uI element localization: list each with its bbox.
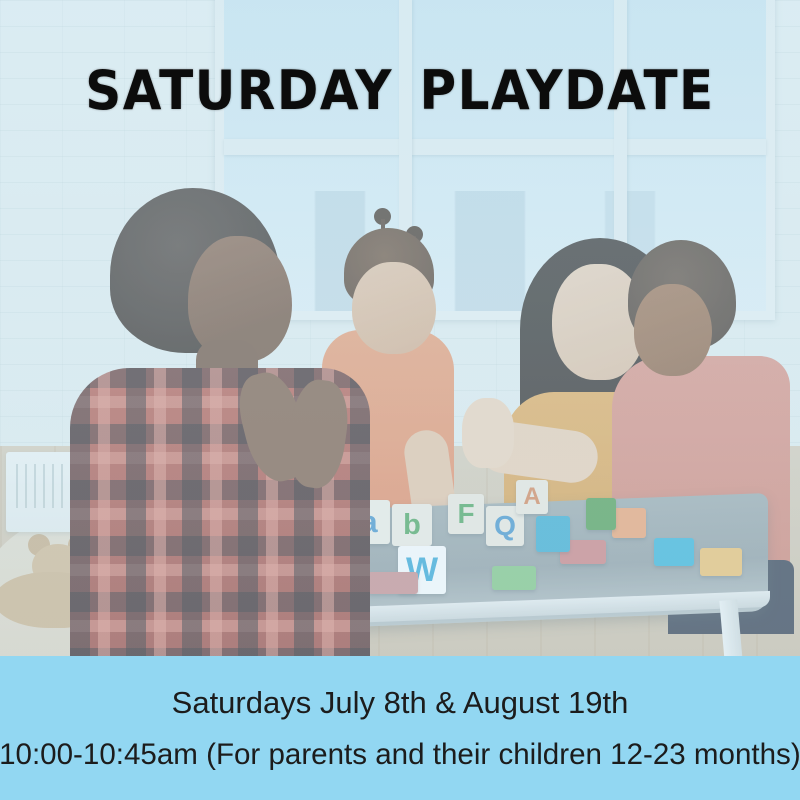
alphabet-block-face <box>654 538 694 566</box>
alphabet-block <box>612 508 646 538</box>
alphabet-block <box>492 566 536 590</box>
alphabet-block-face <box>536 516 570 552</box>
window-mullion-horizontal <box>224 139 766 155</box>
woman-seated-hand <box>462 398 514 468</box>
alphabet-block <box>368 572 418 594</box>
alphabet-block: F <box>448 494 484 534</box>
banner-dates-text: Saturdays July 8th & August 19th <box>172 687 629 718</box>
page-title: Saturday Playdate <box>0 43 800 121</box>
alphabet-block-face <box>612 508 646 538</box>
alphabet-block: b <box>392 504 432 546</box>
alphabet-block-face <box>492 566 536 590</box>
alphabet-block-face <box>586 498 616 530</box>
alphabet-block-face <box>700 548 742 576</box>
toddler-coral-face <box>634 284 712 376</box>
alphabet-block <box>586 498 616 530</box>
banner-time-audience-text: 10:00-10:45am (For parents and their chi… <box>0 740 800 770</box>
alphabet-block <box>700 548 742 576</box>
alphabet-block-face: A <box>516 480 548 514</box>
toddler-orange-face <box>352 262 436 354</box>
alphabet-block <box>654 538 694 566</box>
info-banner: Saturdays July 8th & August 19th 10:00-1… <box>0 656 800 800</box>
alphabet-block: A <box>516 480 548 514</box>
alphabet-block-face: F <box>448 494 484 534</box>
alphabet-block <box>536 516 570 552</box>
alphabet-block-face: b <box>392 504 432 546</box>
alphabet-block-face <box>368 572 418 594</box>
poster-root: abFWQA Saturday Playdate Saturdays July … <box>0 0 800 800</box>
